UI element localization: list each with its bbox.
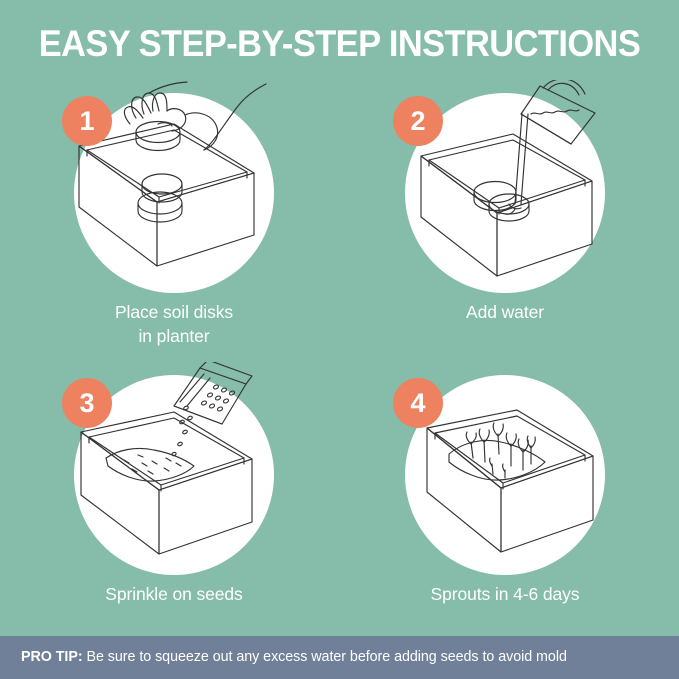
steps-grid: 1 Place soil disks in planter — [0, 88, 679, 628]
step-card-1: 1 Place soil disks in planter — [9, 88, 339, 358]
step-2-caption: Add water — [340, 300, 670, 324]
step-card-2: 2 Add water — [340, 88, 670, 358]
pro-tip-bar: PRO TIP: Be sure to squeeze out any exce… — [0, 636, 679, 679]
step-4-caption: Sprouts in 4-6 days — [340, 582, 670, 606]
step-3-illustration-area — [9, 370, 339, 580]
step-3-caption-line1: Sprinkle on seeds — [105, 584, 242, 604]
step-1-number-badge: 1 — [62, 96, 112, 146]
step-1-illustration-area — [9, 88, 339, 298]
step-3-number-badge: 3 — [62, 378, 112, 428]
page-title: EASY STEP-BY-STEP INSTRUCTIONS — [24, 22, 655, 66]
pro-tip-body: Be sure to squeeze out any excess water … — [83, 649, 567, 665]
step-1-caption-line2: in planter — [9, 324, 339, 348]
step-2-illustration-area — [340, 88, 670, 298]
infographic-page: EASY STEP-BY-STEP INSTRUCTIONS — [0, 0, 679, 679]
step-1-caption: Place soil disks in planter — [9, 300, 339, 348]
step-3-caption: Sprinkle on seeds — [9, 582, 339, 606]
step-2-caption-line1: Add water — [466, 302, 544, 322]
step-4-number-badge: 4 — [393, 378, 443, 428]
pro-tip-text-wrapper: PRO TIP: Be sure to squeeze out any exce… — [21, 636, 567, 679]
step-4-caption-line1: Sprouts in 4-6 days — [431, 584, 580, 604]
step-card-4: 4 Sprouts in 4-6 days — [340, 370, 670, 640]
step-card-3: 3 Sprinkle on seeds — [9, 370, 339, 640]
step-4-illustration-area — [340, 370, 670, 580]
step-2-number-badge: 2 — [393, 96, 443, 146]
pro-tip-label: PRO TIP: — [21, 649, 83, 665]
step-1-caption-line1: Place soil disks — [115, 302, 233, 322]
